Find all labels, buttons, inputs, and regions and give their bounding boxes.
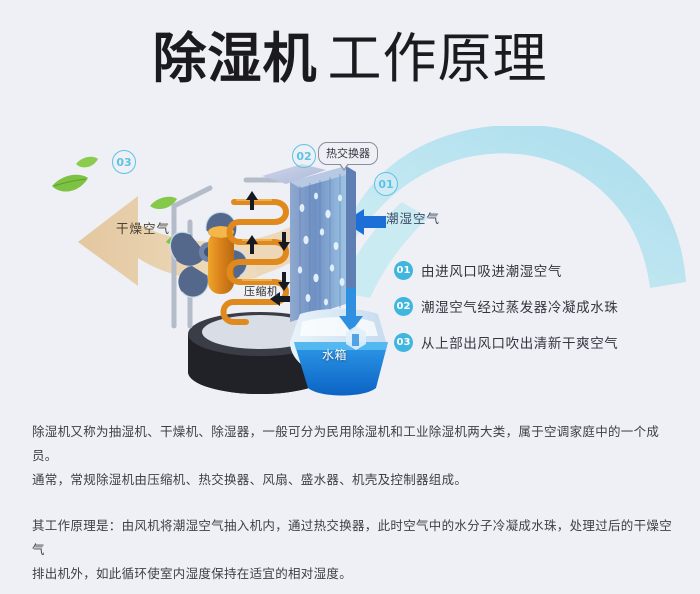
paragraph-1-line-1: 除湿机又称为抽湿机、干燥机、除湿器，一般可分为民用除湿机和工业除湿机两大类，属于… bbox=[32, 424, 659, 463]
paragraph-2-line-2: 排出机外，如此循环使室内湿度保持在适宜的相对湿度。 bbox=[32, 566, 352, 581]
paragraph-1: 除湿机又称为抽湿机、干燥机、除湿器，一般可分为民用除湿机和工业除湿机两大类，属于… bbox=[32, 420, 672, 492]
infographic-canvas: 除湿机工作原理 bbox=[0, 0, 700, 566]
dry-air-label: 干燥空气 bbox=[116, 218, 170, 237]
diagram-marker-03: 03 bbox=[112, 150, 136, 174]
step-badge-01: 01 bbox=[394, 261, 413, 280]
water-tank-label: 水箱 bbox=[322, 346, 347, 363]
title-bold: 除湿机 bbox=[153, 27, 318, 90]
description-copy: 除湿机又称为抽湿机、干燥机、除湿器，一般可分为民用除湿机和工业除湿机两大类，属于… bbox=[32, 420, 672, 594]
heat-exchanger-callout: 热交换器 bbox=[318, 142, 378, 165]
step-badge-02: 02 bbox=[394, 297, 413, 316]
step-text-01: 由进风口吸进潮湿空气 bbox=[421, 260, 562, 280]
paragraph-2: 其工作原理是：由风机将潮湿空气抽入机内，通过热交换器，此时空气中的水分子冷凝成水… bbox=[32, 514, 672, 586]
steps-list: 01 由进风口吸进潮湿空气 02 潮湿空气经过蒸发器冷凝成水珠 03 从上部出风… bbox=[394, 252, 694, 360]
page-title: 除湿机工作原理 bbox=[0, 32, 700, 86]
diagram-marker-01: 01 bbox=[374, 172, 398, 196]
compressor-label: 压缩机 bbox=[244, 283, 279, 299]
title-thin: 工作原理 bbox=[328, 27, 548, 90]
step-badge-03: 03 bbox=[394, 333, 413, 352]
list-item: 01 由进风口吸进潮湿空气 bbox=[394, 252, 694, 288]
paragraph-gap bbox=[32, 500, 672, 514]
diagram-marker-02: 02 bbox=[292, 144, 316, 168]
list-item: 03 从上部出风口吹出清新干爽空气 bbox=[394, 324, 694, 360]
paragraph-1-line-2: 通常，常规除湿机由压缩机、热交换器、风扇、盛水器、机壳及控制器组成。 bbox=[32, 472, 467, 487]
list-item: 02 潮湿空气经过蒸发器冷凝成水珠 bbox=[394, 288, 694, 324]
humid-air-label: 潮湿空气 bbox=[386, 208, 440, 227]
step-text-02: 潮湿空气经过蒸发器冷凝成水珠 bbox=[421, 296, 618, 316]
paragraph-2-line-1: 其工作原理是：由风机将潮湿空气抽入机内，通过热交换器，此时空气中的水分子冷凝成水… bbox=[32, 518, 672, 557]
step-text-03: 从上部出风口吹出清新干爽空气 bbox=[421, 332, 618, 352]
